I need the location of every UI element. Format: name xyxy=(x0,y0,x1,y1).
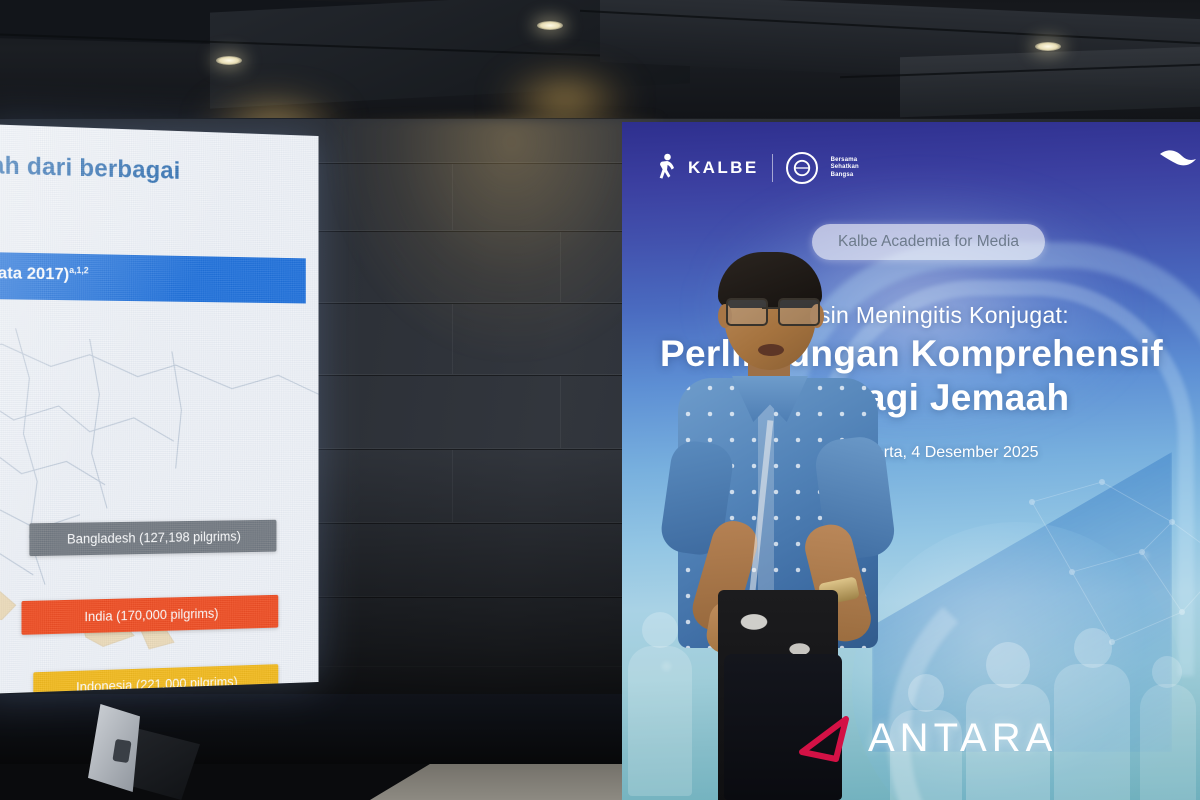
chart-bar-bangladesh: Bangladesh (127,198 pilgrims) xyxy=(29,520,276,556)
eyeglasses-bridge xyxy=(762,307,778,309)
network-graphic xyxy=(1012,462,1200,692)
ceiling-spotlight xyxy=(1035,42,1061,51)
ceiling xyxy=(0,0,1200,122)
brand-tagline: Bersama Sehatkan Bangsa xyxy=(831,157,859,180)
kalbe-logo: KALBE Bersama Sehatkan Bangsa xyxy=(658,152,859,184)
brand-tagline-line3: Bangsa xyxy=(831,172,859,180)
projected-slide: Jemaah dari berbagai is (data 2017)a,1,2… xyxy=(0,124,319,694)
chart-bar-label: Bangladesh (127,198 pilgrims) xyxy=(67,529,241,547)
crowd-silhouette-head xyxy=(908,674,944,712)
brand-tagline-line2: Sehatkan xyxy=(831,164,859,172)
ceiling-spotlight xyxy=(216,56,242,65)
eyeglasses-right-lens xyxy=(778,298,820,326)
antara-wordmark: ANTARA xyxy=(868,716,1057,761)
speaker-mouth xyxy=(758,344,784,356)
kalbe-wordmark: KALBE xyxy=(688,158,759,178)
banner-title-line3: bagi Jemaah xyxy=(842,377,1200,419)
slide-blue-banner: (data 2017)a,1,2 xyxy=(0,251,306,304)
ceiling-spotlight xyxy=(537,21,563,30)
slide-title: Jemaah dari berbagai is xyxy=(0,148,300,219)
world-map-graphic xyxy=(0,314,319,694)
antara-triangle-icon xyxy=(798,712,854,764)
slide-banner-superscript: a,1,2 xyxy=(69,265,88,275)
photo-stage: Jemaah dari berbagai is (data 2017)a,1,2… xyxy=(0,0,1200,800)
laptop-port xyxy=(112,739,131,763)
laptop-lid xyxy=(88,704,140,792)
slide-blue-banner-text: (data 2017)a,1,2 xyxy=(0,263,89,285)
hands-globe-icon xyxy=(788,154,816,182)
antara-watermark: ANTARA xyxy=(798,712,1057,764)
eyeglasses-left-lens xyxy=(726,298,768,326)
chart-bar-label: India (170,000 pilgrims) xyxy=(84,606,218,624)
ceiling-panel xyxy=(900,47,1200,117)
kalbe-logo-top-right: Ka xyxy=(1158,146,1200,172)
bersama-sehatkan-bangsa-icon xyxy=(786,152,818,184)
crowd-silhouette-body xyxy=(1140,684,1196,800)
laptop-device xyxy=(82,704,202,796)
kalbe-bird-icon xyxy=(1158,146,1198,172)
brand-tagline-line1: Bersama xyxy=(831,157,859,165)
kalbe-figure-icon xyxy=(658,153,675,183)
logo-divider xyxy=(772,154,773,182)
